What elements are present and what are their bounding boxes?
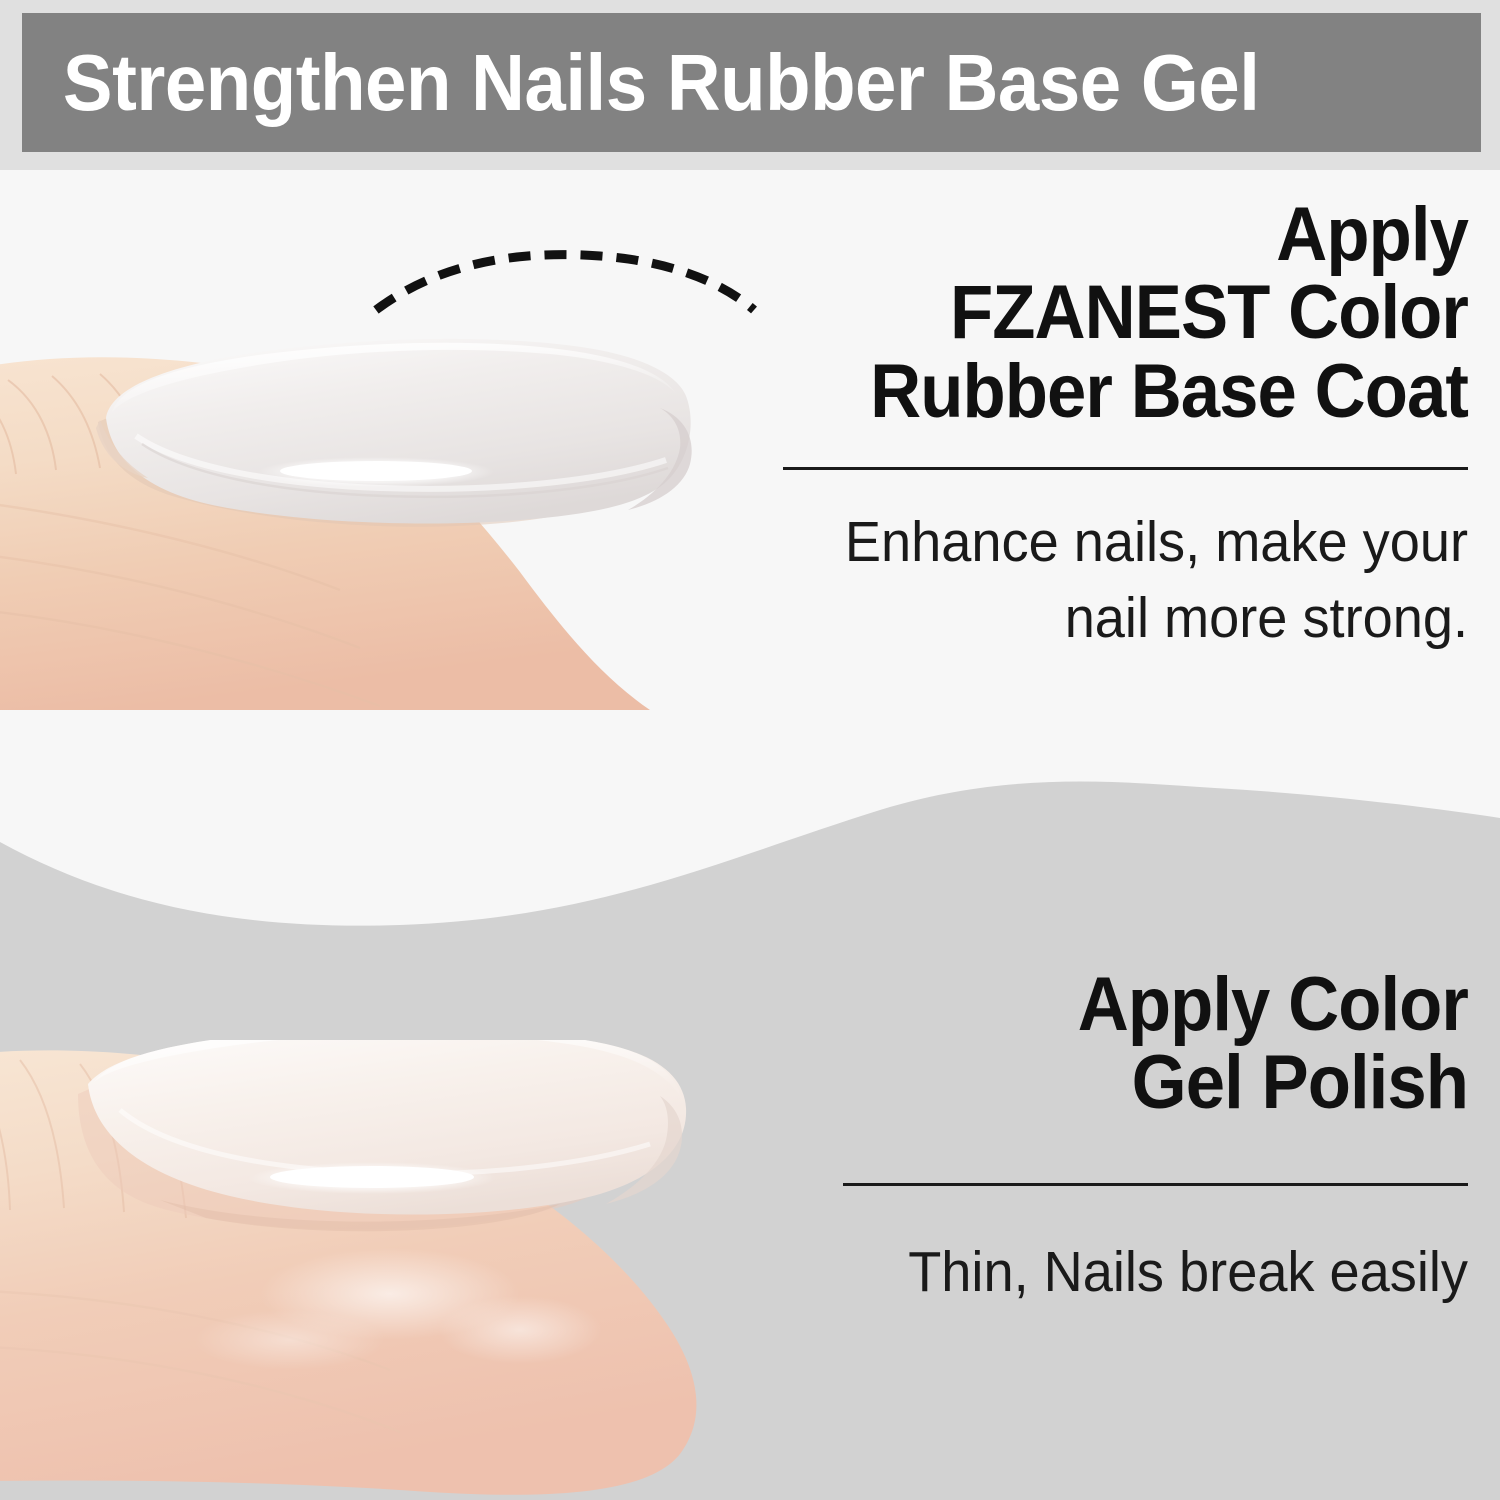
page-title: Strengthen Nails Rubber Base Gel	[22, 43, 1259, 123]
headline-line: Apply	[754, 196, 1468, 274]
subtext-rubber-base-coat: Enhance nails, make your nail more stron…	[738, 504, 1468, 657]
subtext-line: Thin, Nails break easily	[738, 1234, 1468, 1310]
illustration-thin-nail	[0, 1040, 760, 1500]
subtext-line: Enhance nails, make your	[738, 504, 1468, 580]
headline-line: Gel Polish	[754, 1044, 1468, 1122]
headline-rubber-base-coat: Apply FZANEST Color Rubber Base Coat	[754, 196, 1468, 431]
section-color-gel-polish: Apply Color Gel Polish Thin, Nails break…	[700, 966, 1468, 1310]
header-banner: Strengthen Nails Rubber Base Gel	[22, 13, 1481, 152]
subtext-color-gel-polish: Thin, Nails break easily	[738, 1234, 1468, 1310]
section-rubber-base-coat: Apply FZANEST Color Rubber Base Coat Enh…	[700, 196, 1468, 657]
illustration-thick-gel-nail	[0, 290, 720, 710]
headline-line: Apply Color	[754, 966, 1468, 1044]
product-infographic: Strengthen Nails Rubber Base Gel	[0, 0, 1500, 1500]
header-strip: Strengthen Nails Rubber Base Gel	[0, 0, 1500, 170]
subtext-line: nail more strong.	[738, 580, 1468, 656]
divider-rule	[843, 1183, 1468, 1186]
divider-rule	[783, 467, 1468, 470]
headline-line: FZANEST Color	[754, 274, 1468, 352]
headline-line: Rubber Base Coat	[754, 353, 1468, 431]
headline-color-gel-polish: Apply Color Gel Polish	[754, 966, 1468, 1123]
